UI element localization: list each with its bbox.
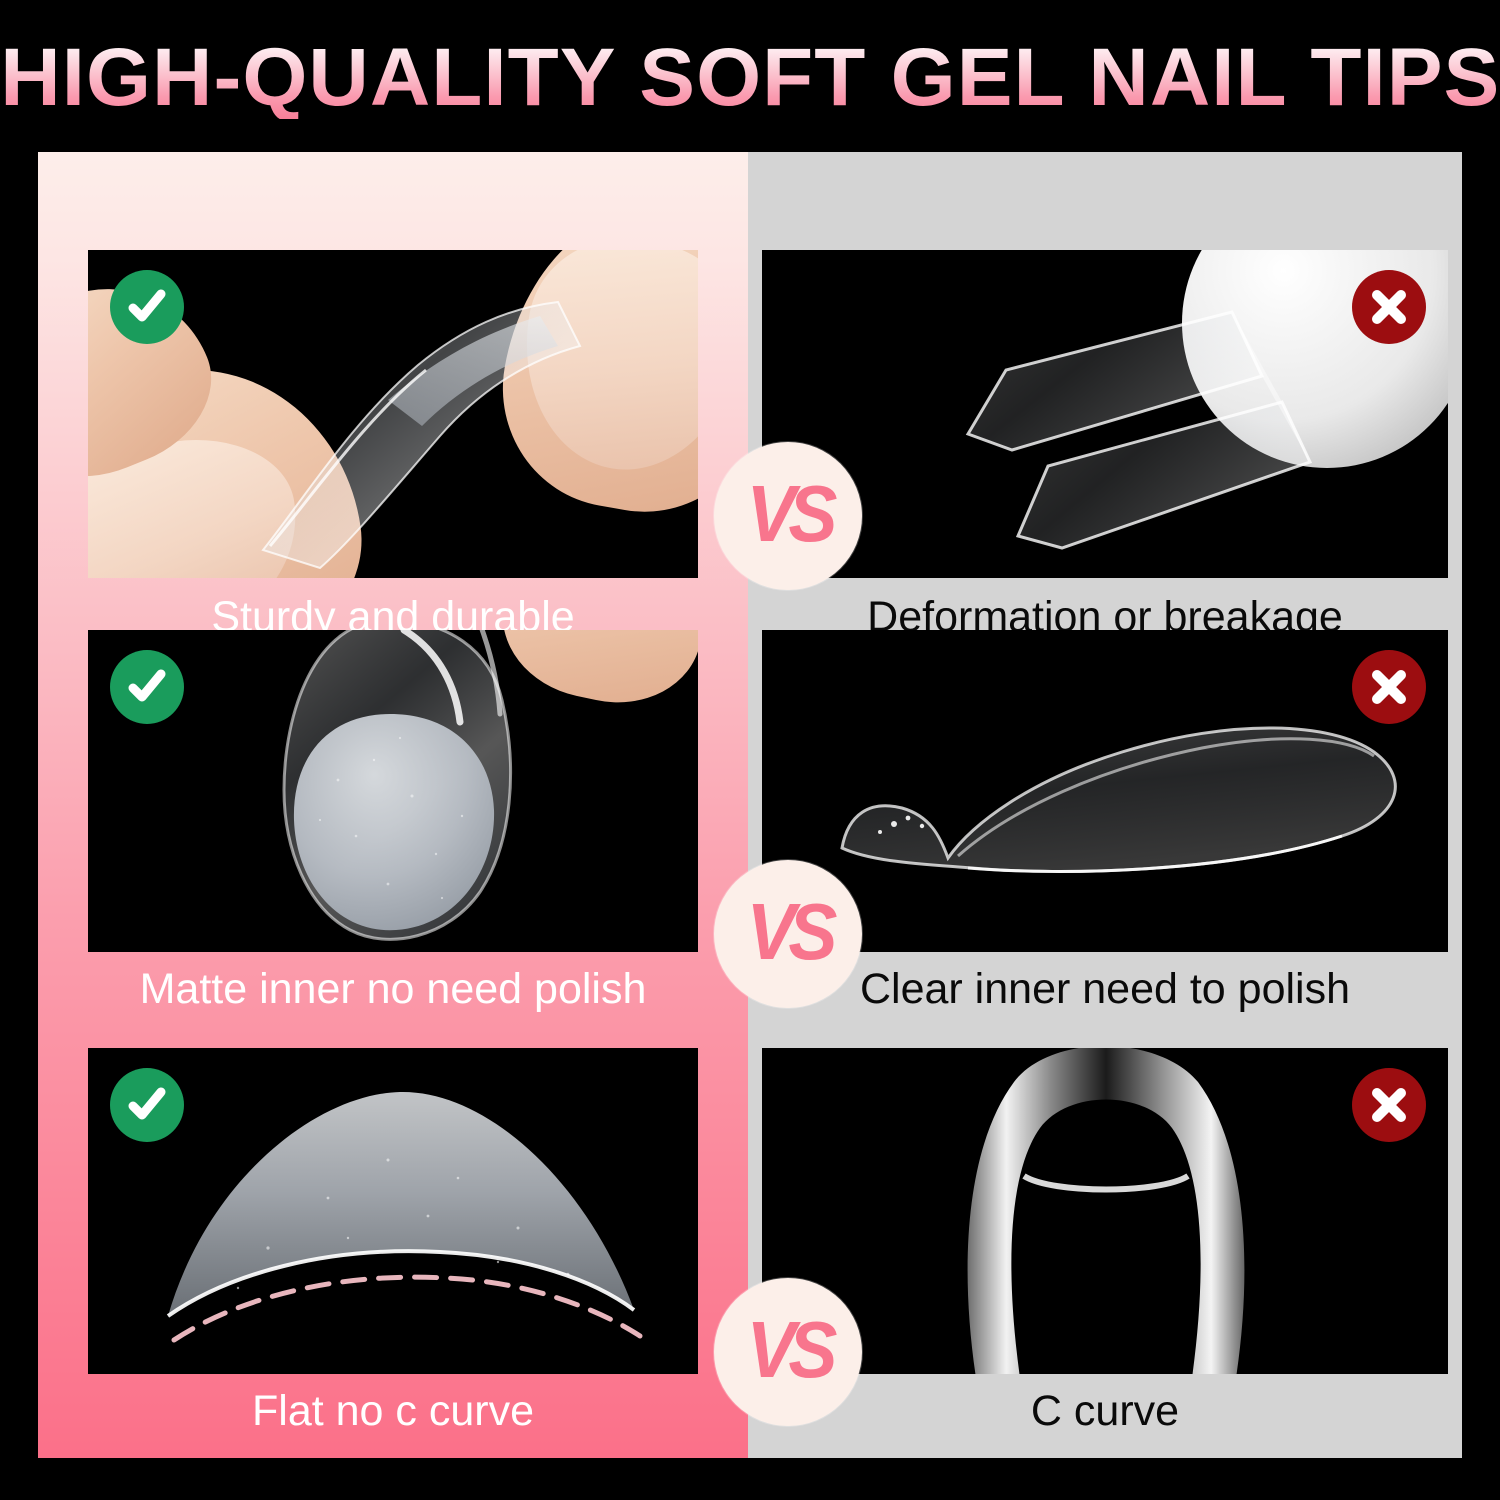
photo-clear-glossy-tip-side-profile [762, 630, 1448, 952]
caption-matte-inner: Matte inner no need polish [38, 968, 748, 1011]
vs-badge-row1: VS [714, 442, 862, 590]
vs-badge-row3: VS [714, 1278, 862, 1426]
good-cell-flat: Flat no c curve [38, 1036, 748, 1458]
bad-cell-c-curve: C curve [748, 1036, 1462, 1458]
good-cell-sturdy: Sturdy and durable [38, 198, 748, 618]
check-icon [121, 281, 173, 333]
vs-label: VS [746, 474, 829, 554]
caption-c-curve: C curve [748, 1390, 1462, 1433]
poster: HIGH-QUALITY SOFT GEL NAIL TIPS [0, 0, 1500, 1500]
good-column: Sturdy and durable [38, 152, 748, 1458]
comparison-board: Sturdy and durable [38, 152, 1462, 1458]
check-icon [121, 1079, 173, 1131]
bad-column: Deformation or breakage [748, 152, 1462, 1458]
check-badge [110, 270, 184, 344]
photo-coffin-tip-matte-inner [88, 630, 698, 952]
caption-flat-no-c-curve: Flat no c curve [38, 1390, 748, 1433]
cross-badge [1352, 650, 1426, 724]
photo-flat-arch-end-view-with-dashed-guide [88, 1048, 698, 1374]
title-bar: HIGH-QUALITY SOFT GEL NAIL TIPS [0, 28, 1500, 128]
check-badge [110, 650, 184, 724]
page-title: HIGH-QUALITY SOFT GEL NAIL TIPS [0, 37, 1500, 119]
cross-badge [1352, 1068, 1426, 1142]
vs-label: VS [746, 1310, 829, 1390]
c-curve-shape [762, 1048, 1448, 1374]
good-cell-matte: Matte inner no need polish [38, 618, 748, 1036]
vs-badge-row2: VS [714, 860, 862, 1008]
broken-tips-shape [762, 250, 1448, 578]
cross-icon [1363, 1079, 1415, 1131]
check-badge [110, 1068, 184, 1142]
vs-label: VS [746, 892, 829, 972]
photo-deep-c-curve-end-view [762, 1048, 1448, 1374]
cross-icon [1363, 281, 1415, 333]
check-icon [121, 661, 173, 713]
dashed-guide-line [174, 1277, 640, 1340]
photo-finger-bending-flexible-tip [88, 250, 698, 578]
cross-badge [1352, 270, 1426, 344]
cross-icon [1363, 661, 1415, 713]
photo-broken-split-tips [762, 250, 1448, 578]
side-profile-tip-shape [762, 630, 1448, 952]
caption-clear-inner: Clear inner need to polish [748, 968, 1462, 1011]
bad-cell-clear-inner: Clear inner need to polish [748, 618, 1462, 1036]
bad-cell-breakage: Deformation or breakage [748, 198, 1462, 618]
